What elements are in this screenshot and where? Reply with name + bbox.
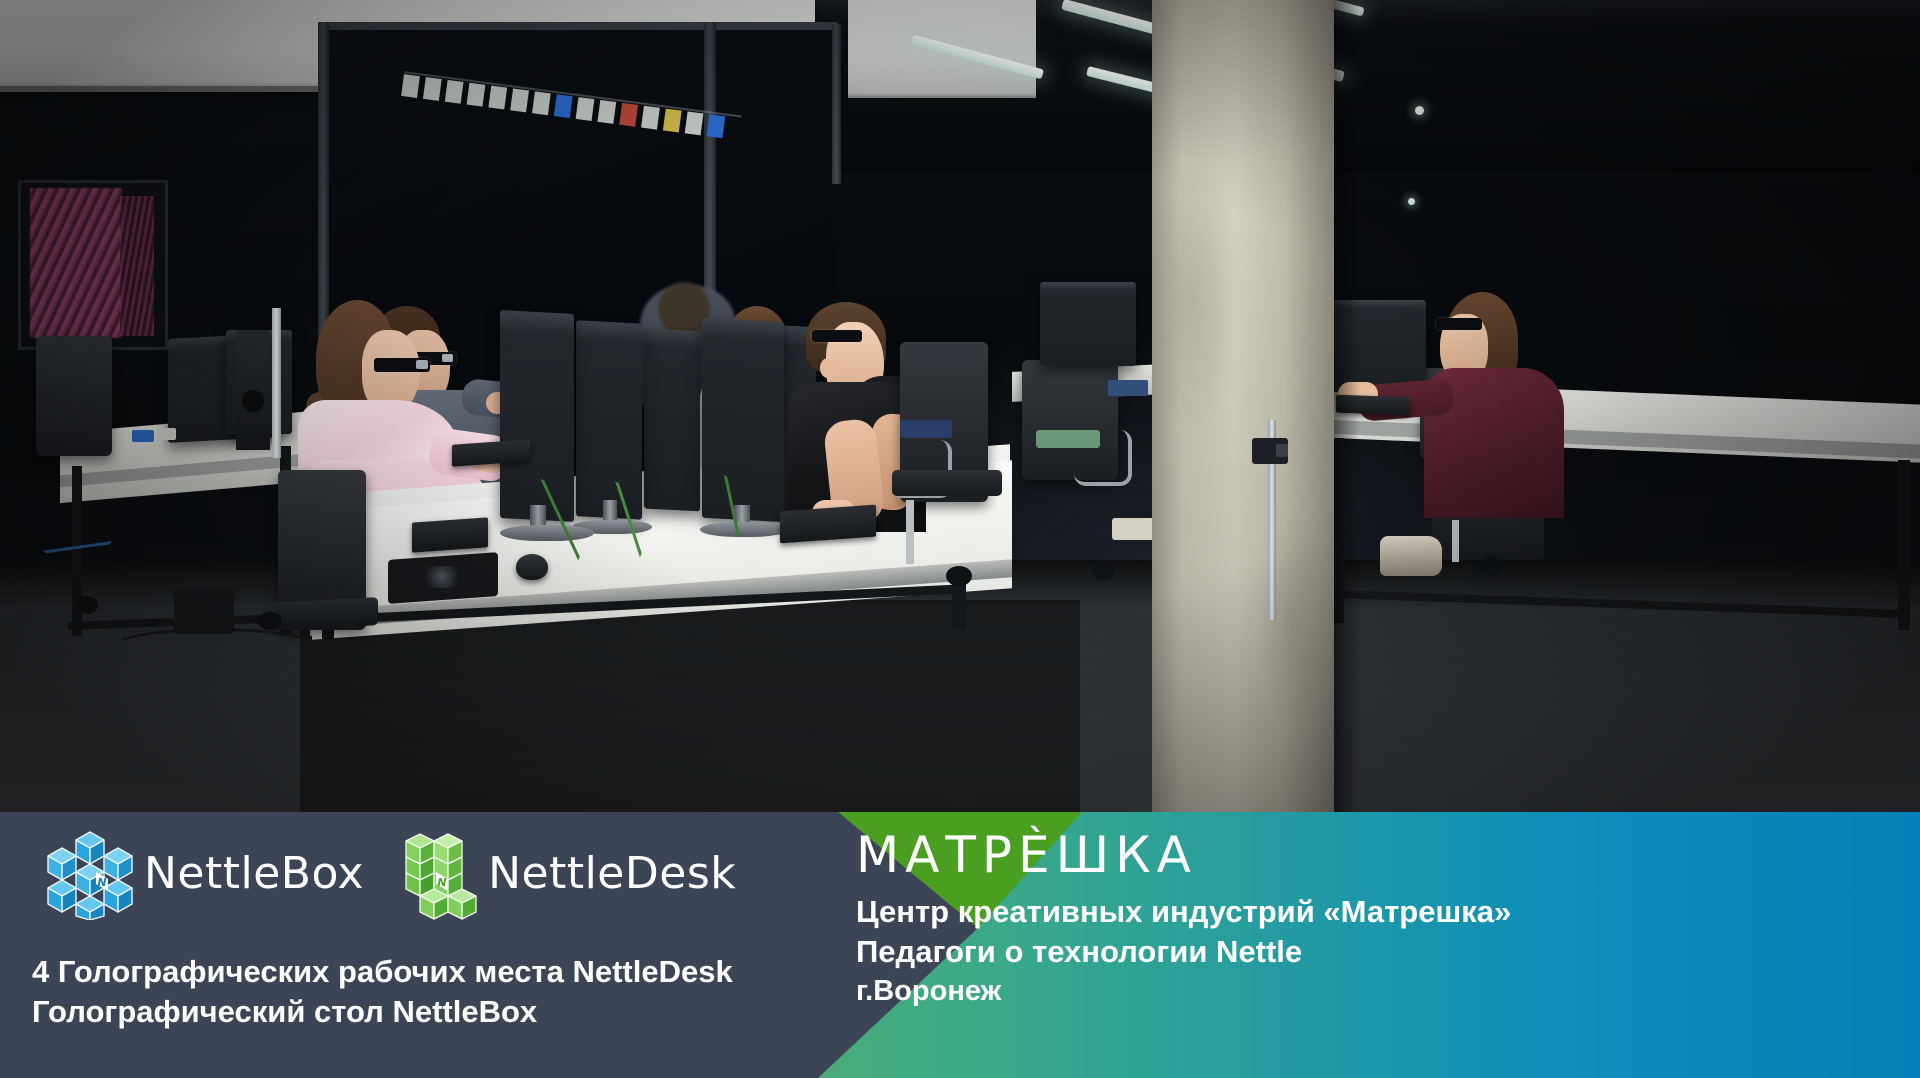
- pink-tinsel-decoration: [30, 188, 122, 338]
- garland-letter: [401, 74, 420, 98]
- desk-item: [160, 428, 176, 440]
- ceiling-light-dot: [1415, 106, 1424, 115]
- office-chair-seat: [892, 470, 1002, 496]
- garland-letter: [707, 114, 726, 138]
- garland-letter: [467, 83, 486, 107]
- 3d-glasses-highlight: [442, 354, 453, 362]
- chair-post: [906, 500, 914, 564]
- 3d-glasses: [812, 330, 862, 342]
- computer-mouse: [516, 554, 548, 580]
- svg-text:N: N: [437, 876, 446, 889]
- chair-wheel: [258, 612, 282, 630]
- keyboard: [412, 517, 488, 552]
- right-caption: МАТРЀШКА Центр креативных индустрий «Мат…: [856, 830, 1511, 1010]
- garland-letter: [488, 86, 507, 110]
- svg-text:N: N: [97, 876, 106, 889]
- concrete-column-shadow: [1334, 0, 1360, 812]
- nettledesk-logo[interactable]: N NettleDesk: [390, 828, 736, 918]
- nettledesk-cube-icon: N: [390, 828, 478, 918]
- desk-item: [1036, 430, 1100, 448]
- right-caption-line-2: Педагоги о технологии Nettle: [856, 932, 1511, 972]
- student-ear: [820, 358, 836, 378]
- right-caption-line-1: Центр креативных индустрий «Матрешка»: [856, 892, 1511, 932]
- bottom-banner: N NettleBox: [0, 812, 1920, 1078]
- ceiling-light-dot: [1408, 198, 1415, 205]
- garland-letter: [685, 111, 704, 135]
- left-caption-line-2: Голографический стол NettleBox: [32, 992, 733, 1032]
- window-frame-horizontal: [318, 22, 838, 30]
- garland-letter: [597, 100, 616, 124]
- garland-letter: [663, 109, 682, 133]
- chair-post: [1452, 520, 1459, 562]
- 3d-glasses-highlight: [416, 360, 428, 369]
- 3d-glasses: [1436, 318, 1482, 330]
- nettlebox-cube-icon: N: [46, 828, 134, 918]
- garland-letter: [510, 88, 529, 112]
- student-shoe: [1380, 536, 1442, 576]
- left-caption-line-1: 4 Голографических рабочих места NettleDe…: [32, 952, 733, 992]
- tracking-camera-lens: [1276, 444, 1288, 457]
- cable: [110, 628, 320, 668]
- garland-letter: [641, 106, 660, 130]
- mousepad-logo: [420, 566, 464, 588]
- speaker-cone: [242, 390, 264, 412]
- garland-letter: [619, 103, 638, 127]
- nettlebox-label: NettleBox: [144, 848, 364, 899]
- photo-classroom: [0, 0, 1920, 812]
- concrete-column-texture: [1152, 0, 1334, 812]
- tracking-rod: [272, 308, 281, 458]
- nettlebox-logo[interactable]: N NettleBox: [46, 828, 364, 918]
- desk-item: [1108, 380, 1148, 396]
- product-logos: N NettleBox: [46, 828, 736, 918]
- pink-tinsel-decoration: [120, 196, 154, 336]
- right-caption-line-3: г.Воронеж: [856, 973, 1511, 1011]
- garland-letter: [554, 94, 573, 118]
- keyboard: [780, 505, 876, 544]
- window-mullion: [832, 24, 841, 184]
- desk-leg: [1898, 460, 1910, 630]
- office-chair-seat: [268, 597, 378, 631]
- chair-wheel: [946, 566, 972, 586]
- garland-letter: [423, 77, 442, 101]
- garland-letter: [445, 80, 464, 104]
- window-pane: [716, 30, 834, 330]
- desk-item: [900, 420, 952, 438]
- left-caption: 4 Голографических рабочих места NettleDe…: [32, 952, 733, 1031]
- garland-letter: [532, 91, 551, 115]
- chair-wheel: [1092, 562, 1114, 580]
- desk-item: [132, 430, 154, 442]
- desk-item: [186, 424, 212, 438]
- nettledesk-label: NettleDesk: [488, 848, 736, 899]
- matreshka-brand: МАТРЀШКА: [856, 830, 1511, 880]
- monitor: [1040, 282, 1136, 366]
- screenshot-root: N NettleBox: [0, 0, 1920, 1078]
- office-chair: [36, 336, 112, 456]
- chair-wheel: [1478, 556, 1502, 576]
- garland-letter: [576, 97, 595, 121]
